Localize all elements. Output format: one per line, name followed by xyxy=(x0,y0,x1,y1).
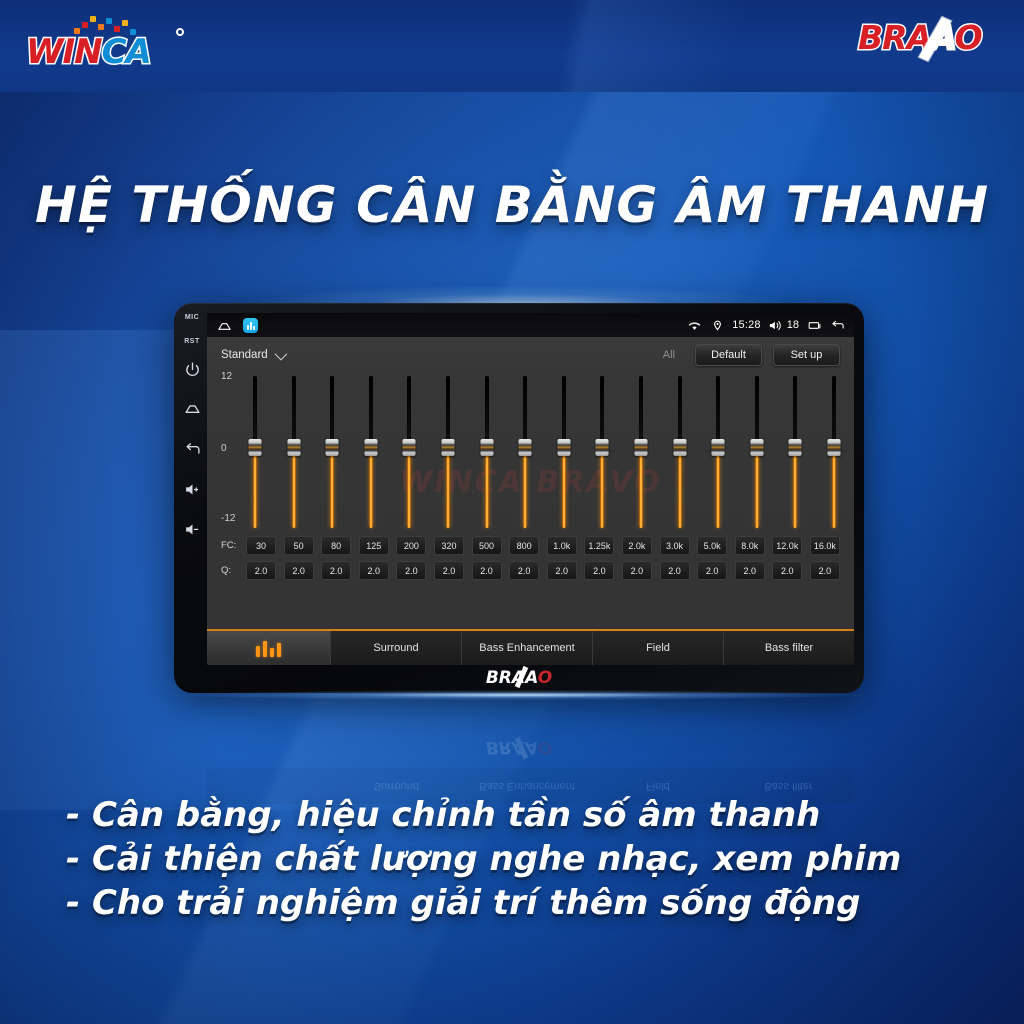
slider-thumb[interactable] xyxy=(557,439,570,456)
head-unit-device: MIC RST xyxy=(174,303,864,693)
volume-icon xyxy=(768,318,784,332)
home-icon[interactable] xyxy=(216,318,232,332)
eq-slider-8.0k[interactable] xyxy=(751,373,763,533)
page-title: HỆ THỐNG CÂN BẰNG ÂM THANH xyxy=(0,176,1024,234)
slider-fill xyxy=(600,451,604,528)
slider-fill xyxy=(523,451,527,528)
slider-fill xyxy=(793,451,797,528)
q-cell-200[interactable]: 2.0 xyxy=(396,561,426,580)
fc-cell-12.0k[interactable]: 12.0k xyxy=(772,536,802,555)
preset-dropdown[interactable]: Standard xyxy=(221,349,284,361)
scale-mid-label: 0 xyxy=(221,443,227,454)
q-cell-8.0k[interactable]: 2.0 xyxy=(735,561,765,580)
tab-field[interactable]: Field xyxy=(593,631,724,665)
eq-slider-1.25k[interactable] xyxy=(596,373,608,533)
q-cell-3.0k[interactable]: 2.0 xyxy=(660,561,690,580)
scale-min-label: -12 xyxy=(221,513,235,524)
slider-fill xyxy=(407,451,411,528)
slider-fill xyxy=(485,451,489,528)
fc-row: FC: 3050801252003205008001.0k1.25k2.0k3.… xyxy=(221,533,840,558)
fc-cell-8.0k[interactable]: 8.0k xyxy=(735,536,765,555)
bravo-logo: BRAAO xyxy=(858,14,1008,64)
winca-logo-text-secondary: CA xyxy=(102,32,151,72)
equalizer-icon xyxy=(256,640,281,657)
slider-fill xyxy=(678,451,682,528)
q-cell-50[interactable]: 2.0 xyxy=(284,561,314,580)
volume-value: 18 xyxy=(787,319,799,331)
equalizer-sliders-area: 12 0 -12 xyxy=(221,373,840,533)
slider-thumb[interactable] xyxy=(441,439,454,456)
fc-cell-1.25k[interactable]: 1.25k xyxy=(584,536,614,555)
slider-fill xyxy=(716,451,720,528)
bullet-line-1: - Cân bằng, hiệu chỉnh tần số âm thanh xyxy=(66,793,966,837)
fc-cell-5.0k[interactable]: 5.0k xyxy=(697,536,727,555)
slider-thumb[interactable] xyxy=(519,439,532,456)
feature-bullets: - Cân bằng, hiệu chỉnh tần số âm thanh -… xyxy=(66,793,966,925)
fc-cell-125[interactable]: 125 xyxy=(359,536,389,555)
equalizer-panel: WINCA BRAVO Standard All Default Set up … xyxy=(207,337,854,665)
q-cell-800[interactable]: 2.0 xyxy=(509,561,539,580)
q-cell-320[interactable]: 2.0 xyxy=(434,561,464,580)
slider-thumb[interactable] xyxy=(403,439,416,456)
slider-thumb[interactable] xyxy=(596,439,609,456)
eq-slider-125[interactable] xyxy=(365,373,377,533)
slider-thumb[interactable] xyxy=(827,439,840,456)
fc-cell-50[interactable]: 50 xyxy=(284,536,314,555)
q-cell-12.0k[interactable]: 2.0 xyxy=(772,561,802,580)
eq-slider-80[interactable] xyxy=(326,373,338,533)
winca-logo-text-primary: WIN xyxy=(26,32,102,72)
eq-slider-16.0k[interactable] xyxy=(828,373,840,533)
q-cell-2.0k[interactable]: 2.0 xyxy=(622,561,652,580)
fc-cell-200[interactable]: 200 xyxy=(396,536,426,555)
slider-fill xyxy=(253,451,257,528)
fc-cell-800[interactable]: 800 xyxy=(509,536,539,555)
tab-surround-label: Surround xyxy=(373,642,418,654)
default-button[interactable]: Default xyxy=(695,344,762,366)
eq-slider-2.0k[interactable] xyxy=(635,373,647,533)
slider-fill xyxy=(562,451,566,528)
q-cell-80[interactable]: 2.0 xyxy=(321,561,351,580)
tab-equalizer[interactable] xyxy=(207,631,331,665)
slider-thumb[interactable] xyxy=(789,439,802,456)
android-status-bar: 15:28 18 xyxy=(207,313,854,337)
equalizer-app-icon[interactable] xyxy=(243,318,258,333)
bravo-logo-text: BRA xyxy=(858,18,931,57)
q-cell-16.0k[interactable]: 2.0 xyxy=(810,561,840,580)
eq-slider-50[interactable] xyxy=(288,373,300,533)
slider-fill xyxy=(369,451,373,528)
q-cell-500[interactable]: 2.0 xyxy=(472,561,502,580)
device-screen: 15:28 18 WINCA BRAVO xyxy=(207,313,854,665)
wifi-icon xyxy=(686,318,702,332)
fc-cell-320[interactable]: 320 xyxy=(434,536,464,555)
eq-slider-5.0k[interactable] xyxy=(712,373,724,533)
fc-cell-1.0k[interactable]: 1.0k xyxy=(547,536,577,555)
location-pin-icon xyxy=(709,318,725,332)
device-side-buttons: MIC RST xyxy=(174,303,210,693)
setup-button[interactable]: Set up xyxy=(773,344,840,366)
fc-cell-500[interactable]: 500 xyxy=(472,536,502,555)
q-cell-1.25k[interactable]: 2.0 xyxy=(584,561,614,580)
eq-slider-30[interactable] xyxy=(249,373,261,533)
eq-slider-200[interactable] xyxy=(403,373,415,533)
preset-label: Standard xyxy=(221,349,268,361)
q-cell-list: 2.02.02.02.02.02.02.02.02.02.02.02.02.02… xyxy=(246,561,840,580)
slider-fill xyxy=(832,451,836,528)
power-icon[interactable] xyxy=(182,359,202,379)
volume-up-icon[interactable] xyxy=(182,479,202,499)
tab-field-label: Field xyxy=(646,642,670,654)
slider-thumb[interactable] xyxy=(634,439,647,456)
slider-fill xyxy=(292,451,296,528)
bezel-bravo-tail: O xyxy=(538,668,552,688)
fc-cell-80[interactable]: 80 xyxy=(321,536,351,555)
eq-slider-12.0k[interactable] xyxy=(789,373,801,533)
fc-cell-2.0k[interactable]: 2.0k xyxy=(622,536,652,555)
winca-logo: WINCA xyxy=(26,10,186,72)
slider-thumb[interactable] xyxy=(712,439,725,456)
back-icon[interactable] xyxy=(182,439,202,459)
scale-max-label: 12 xyxy=(221,371,232,382)
fc-cell-16.0k[interactable]: 16.0k xyxy=(810,536,840,555)
slider-fill xyxy=(755,451,759,528)
home-icon[interactable] xyxy=(182,399,202,419)
slider-thumb[interactable] xyxy=(364,439,377,456)
eq-slider-800[interactable] xyxy=(519,373,531,533)
fc-label: FC: xyxy=(221,540,246,551)
tab-bass-enhancement-label: Bass Enhancement xyxy=(479,642,574,654)
status-clock: 15:28 xyxy=(732,319,761,331)
slider-thumb[interactable] xyxy=(750,439,763,456)
reset-label: RST xyxy=(184,338,200,345)
slider-thumb[interactable] xyxy=(326,439,339,456)
chevron-down-icon xyxy=(274,347,287,360)
tab-bass-enhancement[interactable]: Bass Enhancement xyxy=(462,631,593,665)
slider-thumb[interactable] xyxy=(480,439,493,456)
slider-fill xyxy=(639,451,643,528)
eq-slider-320[interactable] xyxy=(442,373,454,533)
bravo-logo-tail: O xyxy=(955,18,982,57)
equalizer-slider-list xyxy=(249,373,840,533)
tab-bass-filter-label: Bass filter xyxy=(765,642,813,654)
q-cell-30[interactable]: 2.0 xyxy=(246,561,276,580)
equalizer-tab-bar: SurroundBass EnhancementFieldBass filter xyxy=(207,629,854,665)
fc-cell-3.0k[interactable]: 3.0k xyxy=(660,536,690,555)
slider-thumb[interactable] xyxy=(249,439,262,456)
registered-mark-icon xyxy=(176,28,184,36)
eq-slider-3.0k[interactable] xyxy=(674,373,686,533)
slider-thumb[interactable] xyxy=(287,439,300,456)
q-label: Q: xyxy=(221,565,246,576)
all-label: All xyxy=(663,349,675,361)
back-icon[interactable] xyxy=(829,318,845,332)
mic-label: MIC xyxy=(185,314,199,321)
equalizer-toolbar: Standard All Default Set up xyxy=(207,337,854,373)
bullet-line-3: - Cho trải nghiệm giải trí thêm sống độn… xyxy=(66,881,966,925)
tab-surround[interactable]: Surround xyxy=(331,631,462,665)
q-cell-1.0k[interactable]: 2.0 xyxy=(547,561,577,580)
fc-cell-30[interactable]: 30 xyxy=(246,536,276,555)
recents-icon[interactable] xyxy=(806,318,822,332)
device-bezel-logo: BRAAO xyxy=(174,665,864,691)
eq-slider-500[interactable] xyxy=(481,373,493,533)
q-row: Q: 2.02.02.02.02.02.02.02.02.02.02.02.02… xyxy=(221,558,840,583)
q-cell-125[interactable]: 2.0 xyxy=(359,561,389,580)
tab-bass-filter[interactable]: Bass filter xyxy=(724,631,854,665)
slider-thumb[interactable] xyxy=(673,439,686,456)
slider-fill xyxy=(446,451,450,528)
eq-slider-1.0k[interactable] xyxy=(558,373,570,533)
volume-down-icon[interactable] xyxy=(182,519,202,539)
slider-fill xyxy=(330,451,334,528)
device-bezel: MIC RST xyxy=(174,303,864,693)
fc-cell-list: 3050801252003205008001.0k1.25k2.0k3.0k5.… xyxy=(246,536,840,555)
q-cell-5.0k[interactable]: 2.0 xyxy=(697,561,727,580)
bullet-line-2: - Cải thiện chất lượng nghe nhạc, xem ph… xyxy=(66,837,966,881)
